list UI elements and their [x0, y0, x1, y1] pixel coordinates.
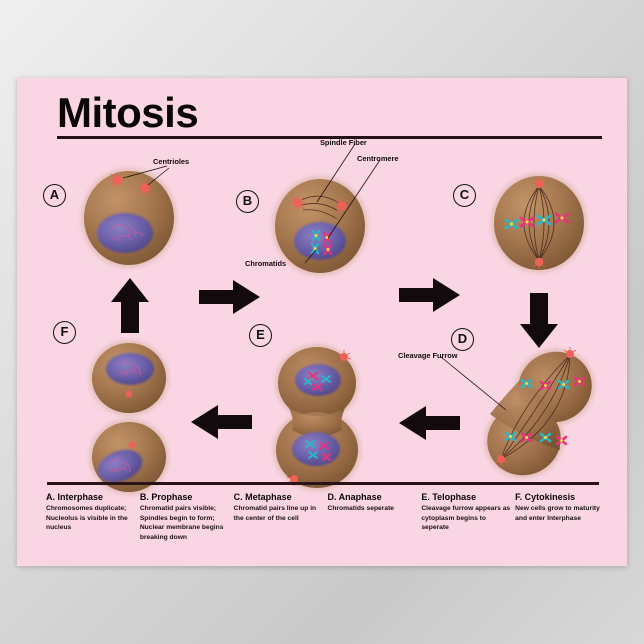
legend-item-cytokinesis: F. Cytokinesis New cells grow to maturit… [515, 492, 606, 542]
legend-description: Chromosomes duplicate; Nucleolus is visi… [46, 504, 137, 533]
legend-title: B. Prophase [140, 492, 231, 502]
legend-item-prophase: B. Prophase Chromatid pairs visible; Spi… [140, 492, 231, 542]
stage-d-cell [441, 337, 606, 490]
stage-badge-f: F [53, 321, 76, 344]
legend-item-metaphase: C. Metaphase Chromatid pairs line up in … [234, 492, 325, 542]
stage-b-cell [272, 144, 380, 276]
stage-badge-e: E [249, 324, 272, 347]
stage-badge-a: A [43, 184, 66, 207]
stage-a-cell [81, 166, 177, 268]
legend: A. Interphase Chromosomes duplicate; Nuc… [46, 492, 606, 542]
legend-title: A. Interphase [46, 492, 137, 502]
legend-divider [47, 482, 599, 485]
stage-f-cell [89, 340, 169, 495]
stage-c-cell [491, 173, 587, 273]
callout-centromere: Centromere [357, 154, 398, 163]
stage-badge-b: B [236, 190, 259, 213]
legend-title: C. Metaphase [234, 492, 325, 502]
arrow-e-to-f [191, 405, 252, 439]
legend-description: New cells grow to maturity and enter Int… [515, 504, 606, 523]
legend-title: F. Cytokinesis [515, 492, 606, 502]
callout-centrioles: Centrioles [153, 157, 189, 166]
legend-description: Chromatids seperate [327, 504, 418, 514]
callout-chromatids: Chromatids [245, 259, 286, 268]
legend-description: Cleavage furrow appears as cytoplasm beg… [421, 504, 512, 533]
callout-cleavage-furrow: Cleavage Furrow [398, 351, 458, 360]
legend-description: Chromatid pairs line up in the center of… [234, 504, 325, 523]
arrow-b-to-c [399, 278, 460, 312]
legend-title: E. Telophase [421, 492, 512, 502]
legend-item-interphase: A. Interphase Chromosomes duplicate; Nuc… [46, 492, 137, 542]
arrow-a-to-b [199, 280, 260, 314]
arrow-f-to-a [111, 278, 149, 333]
arrow-d-to-e [399, 406, 460, 440]
legend-title: D. Anaphase [327, 492, 418, 502]
callout-spindle-fiber: Spindle Fiber [320, 138, 367, 147]
stage-badge-c: C [453, 184, 476, 207]
legend-item-telophase: E. Telophase Cleavage furrow appears as … [421, 492, 512, 542]
legend-description: Chromatid pairs visible; Spindles begin … [140, 504, 231, 542]
arrow-c-to-d [520, 293, 558, 348]
stage-e-cell [273, 344, 361, 491]
legend-item-anaphase: D. Anaphase Chromatids seperate [327, 492, 418, 542]
mitosis-poster: Mitosis [17, 78, 627, 566]
stage-badge-d: D [451, 328, 474, 351]
